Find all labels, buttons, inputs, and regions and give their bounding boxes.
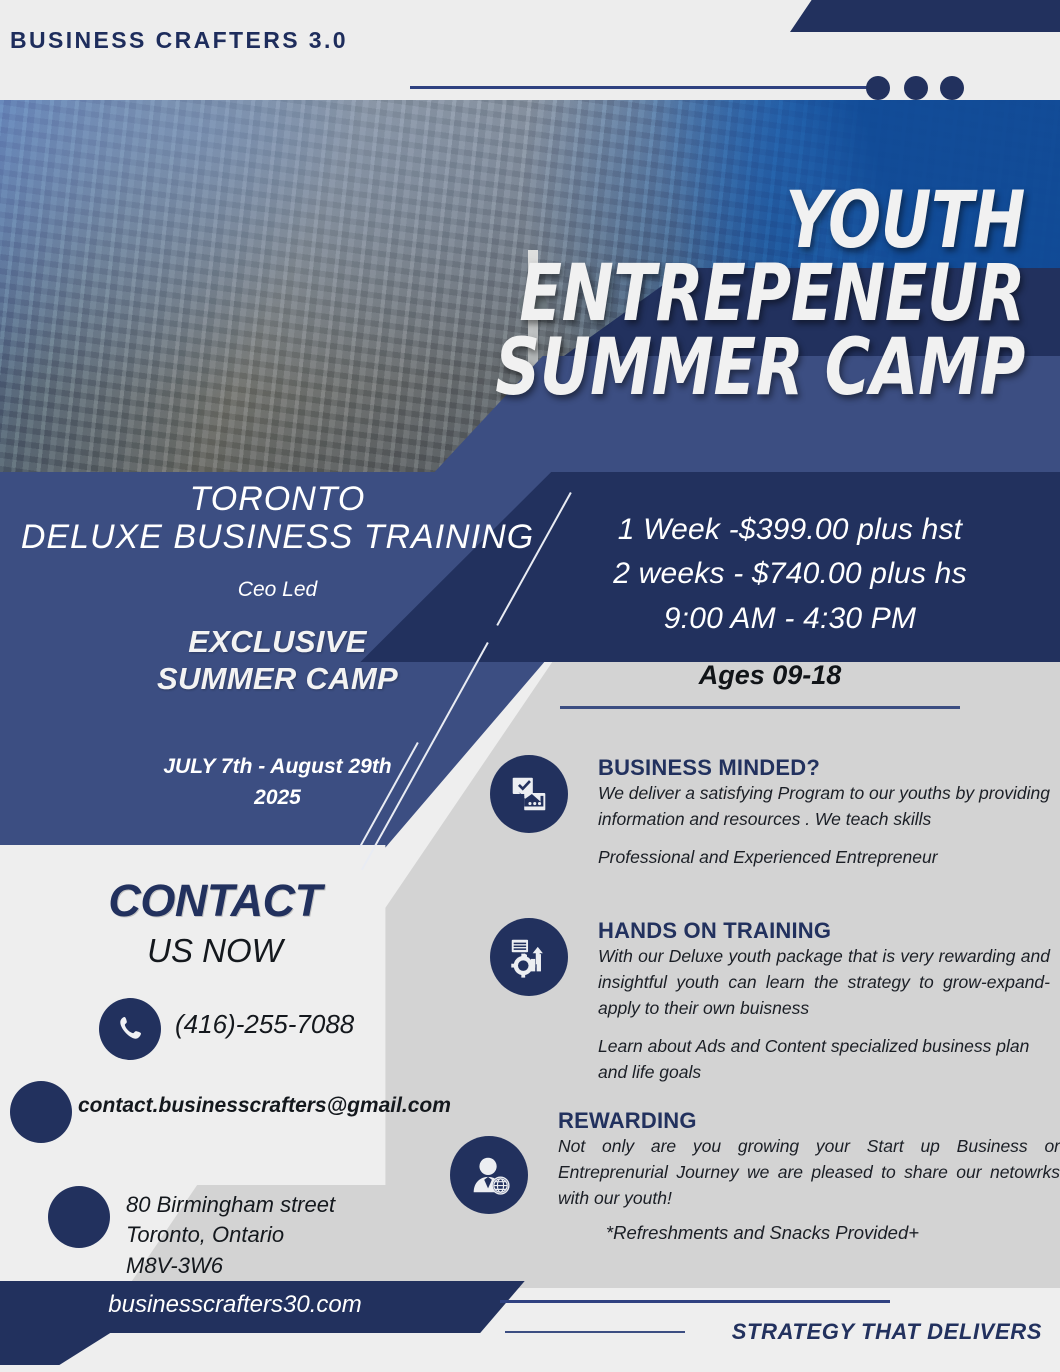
footer-divider-line-2	[505, 1331, 685, 1333]
header-divider-line	[410, 86, 870, 89]
feature-hands-on-training: HANDS ON TRAINING With our Deluxe youth …	[490, 918, 1050, 1085]
exclusive-line-2: SUMMER CAMP	[0, 661, 555, 698]
camp-hours: 9:00 AM - 4:30 PM	[540, 597, 1040, 641]
feature-body: Not only are you growing your Start up B…	[558, 1134, 1060, 1212]
address-line-1: 80 Birmingham street	[126, 1190, 335, 1220]
website-url[interactable]: businesscrafters30.com	[0, 1291, 470, 1319]
hero-title-line-2: ENTREPENEUR	[205, 258, 1025, 331]
envelope-icon[interactable]	[10, 1081, 72, 1143]
exclusive-line-1: EXCLUSIVE	[0, 624, 555, 661]
feature-rewarding: REWARDING Not only are you growing your …	[450, 1108, 1060, 1212]
city-name: TORONTO	[0, 480, 555, 518]
contact-email[interactable]: contact.businesscrafters@gmail.com	[78, 1094, 451, 1118]
program-name: DELUXE BUSINESS TRAINING	[0, 518, 555, 556]
map-pin-icon[interactable]	[48, 1186, 110, 1248]
feature-body-secondary: Learn about Ads and Content specialized …	[598, 1034, 1050, 1086]
contact-address: 80 Birmingham street Toronto, Ontario M8…	[126, 1190, 335, 1281]
ages-divider-line	[560, 706, 960, 709]
phone-icon[interactable]	[99, 998, 161, 1060]
feature-body: We deliver a satisfying Program to our y…	[598, 781, 1050, 833]
footer-divider-line-1	[500, 1300, 890, 1303]
price-two-weeks: 2 weeks - $740.00 plus hs	[540, 552, 1040, 596]
businessperson-globe-icon	[450, 1136, 528, 1214]
refreshments-note: *Refreshments and Snacks Provided+	[490, 1222, 1035, 1244]
hero-title-line-1: YOUTH	[205, 185, 1025, 258]
ages-label: Ages 09-18	[560, 660, 980, 691]
dot-1-icon	[866, 76, 890, 100]
contact-subheading: US NOW	[0, 932, 430, 970]
gear-bar-chart-growth-icon	[490, 918, 568, 996]
dot-3-icon	[940, 76, 964, 100]
feature-body-secondary: Professional and Experienced Entrepreneu…	[598, 845, 1050, 871]
document-check-chart-icon	[490, 755, 568, 833]
address-line-3: M8V-3W6	[126, 1251, 335, 1281]
hero-title: YOUTH ENTREPENEUR SUMMER CAMP	[0, 185, 1060, 405]
footer-tagline: STRATEGY THAT DELIVERS	[732, 1319, 1042, 1345]
dot-2-icon	[904, 76, 928, 100]
flyer-poster: BUSINESS CRAFTERS 3.0 YOUTH ENTREPENEUR …	[0, 0, 1060, 1372]
ceo-led-label: Ceo Led	[0, 578, 555, 602]
feature-business-minded: BUSINESS MINDED? We deliver a satisfying…	[490, 755, 1050, 871]
contact-heading: CONTACT	[0, 875, 430, 927]
program-intro-block: TORONTO DELUXE BUSINESS TRAINING Ceo Led…	[0, 480, 555, 813]
hero-title-line-3: SUMMER CAMP	[205, 332, 1025, 405]
camp-dates-line-1: JULY 7th - August 29th	[0, 752, 555, 782]
feature-title: REWARDING	[558, 1108, 1060, 1134]
contact-phone-number[interactable]: (416)-255-7088	[175, 1009, 354, 1040]
camp-dates-year: 2025	[0, 783, 555, 813]
feature-title: HANDS ON TRAINING	[598, 918, 1050, 944]
brand-title: BUSINESS CRAFTERS 3.0	[10, 27, 348, 54]
header-corner-shape	[790, 0, 1060, 32]
feature-body: With our Deluxe youth package that is ve…	[598, 944, 1050, 1022]
feature-title: BUSINESS MINDED?	[598, 755, 1050, 781]
pricing-block: 1 Week -$399.00 plus hst 2 weeks - $740.…	[540, 508, 1040, 641]
price-one-week: 1 Week -$399.00 plus hst	[540, 508, 1040, 552]
address-line-2: Toronto, Ontario	[126, 1220, 335, 1250]
